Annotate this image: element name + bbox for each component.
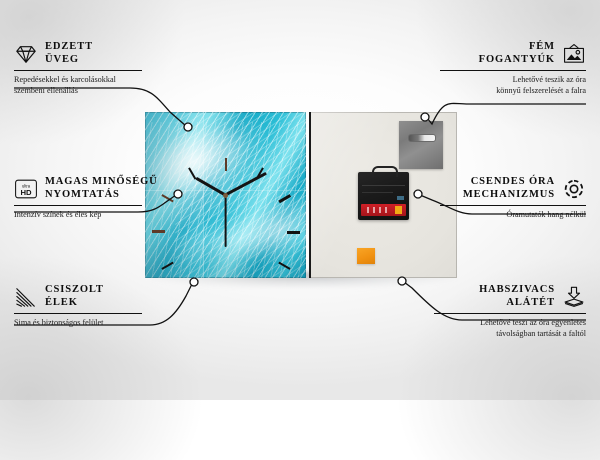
clock-minute-hand bbox=[225, 172, 267, 197]
callout-subtitle: Óramutatók hang nélkül bbox=[440, 210, 586, 221]
callout-subtitle: Intenzív színek és éles kép bbox=[14, 210, 142, 221]
clock-mechanism-module bbox=[358, 172, 409, 220]
callout-header: ultra HD MAGAS MINŐSÉGŰNYOMTATÁS bbox=[14, 176, 142, 201]
callout-subtitle: Sima és biztonságos felület bbox=[14, 318, 142, 329]
callout-high-quality-print[interactable]: ultra HD MAGAS MINŐSÉGŰNYOMTATÁS Intenzí… bbox=[14, 176, 142, 221]
battery-stripe bbox=[379, 207, 381, 213]
callout-title: EDZETTÜVEG bbox=[45, 41, 93, 66]
callout-subtitle: Lehetővé teszik az óra könnyű felszerelé… bbox=[440, 75, 586, 96]
battery-stripe bbox=[367, 207, 369, 213]
callout-divider bbox=[440, 70, 586, 71]
hour-tick-7 bbox=[188, 232, 227, 279]
callout-header: CSISZOLTÉLEK bbox=[14, 284, 142, 309]
callout-subtitle: Repedésekkel és karcolásokkal szembeni e… bbox=[14, 75, 142, 96]
mechanism-seam-lower bbox=[362, 192, 393, 193]
callout-tempered-glass[interactable]: EDZETTÜVEG Repedésekkel és karcolásokkal… bbox=[14, 41, 142, 96]
clock-center-cap bbox=[223, 193, 228, 198]
callout-polished-edges[interactable]: CSISZOLTÉLEK Sima és biztonságos felület bbox=[14, 284, 142, 329]
callout-divider bbox=[14, 205, 142, 206]
hour-tick-9 bbox=[152, 231, 226, 233]
metal-hanger-plate bbox=[399, 121, 443, 169]
clock-dial bbox=[145, 112, 306, 278]
ultra-hd-icon: ultra HD bbox=[14, 178, 38, 200]
mechanism-seam-upper bbox=[362, 185, 405, 186]
mechanism-label-chip bbox=[397, 196, 404, 200]
callout-header: EDZETTÜVEG bbox=[14, 41, 142, 66]
callout-title: MAGAS MINŐSÉGŰNYOMTATÁS bbox=[45, 176, 158, 201]
orange-foam-pad bbox=[357, 248, 375, 264]
clock-second-hand bbox=[225, 195, 227, 247]
callout-header: HABSZIVACSALÁTÉT bbox=[434, 284, 586, 309]
callout-divider bbox=[14, 313, 142, 314]
callout-metal-handles[interactable]: FÉMFOGANTYÚK Lehetővé teszik az óra könn… bbox=[440, 41, 586, 96]
polished-edges-icon bbox=[14, 286, 38, 308]
callout-silent-mechanism[interactable]: CSENDES ÓRAMECHANIZMUS Óramutatók hang n… bbox=[440, 176, 586, 221]
hour-tick-3 bbox=[226, 231, 300, 233]
callout-title: CSENDES ÓRAMECHANIZMUS bbox=[463, 176, 555, 201]
battery-stripe bbox=[373, 207, 375, 213]
svg-text:HD: HD bbox=[20, 188, 32, 197]
back-panel-edge bbox=[309, 112, 311, 278]
gear-icon bbox=[562, 178, 586, 200]
callout-divider bbox=[440, 205, 586, 206]
callout-divider bbox=[434, 313, 586, 314]
wall-clock-back bbox=[309, 112, 457, 278]
battery-positive-terminal bbox=[395, 206, 402, 214]
callout-title: HABSZIVACSALÁTÉT bbox=[479, 284, 555, 309]
infographic-canvas: EDZETTÜVEG Repedésekkel és karcolásokkal… bbox=[0, 0, 600, 400]
callout-foam-pad[interactable]: HABSZIVACSALÁTÉT Lehetővé teszi az óra e… bbox=[434, 284, 586, 339]
callout-divider bbox=[14, 70, 142, 71]
hour-tick-5 bbox=[225, 232, 264, 279]
callout-header: FÉMFOGANTYÚK bbox=[440, 41, 586, 66]
callout-title: CSISZOLTÉLEK bbox=[45, 284, 104, 309]
battery-stripe bbox=[385, 207, 387, 213]
wall-clock-front bbox=[145, 112, 306, 278]
picture-hanger-icon bbox=[562, 43, 586, 65]
callout-subtitle: Lehetővé teszi az óra egyenletes távolsá… bbox=[434, 318, 586, 339]
product-image bbox=[145, 112, 457, 278]
battery bbox=[361, 204, 406, 216]
callout-title: FÉMFOGANTYÚK bbox=[479, 41, 555, 66]
mechanism-hanging-loop bbox=[372, 166, 398, 177]
foam-pad-icon bbox=[562, 286, 586, 308]
hanger-slot bbox=[408, 134, 436, 142]
callout-header: CSENDES ÓRAMECHANIZMUS bbox=[440, 176, 586, 201]
diamond-icon bbox=[14, 43, 38, 65]
